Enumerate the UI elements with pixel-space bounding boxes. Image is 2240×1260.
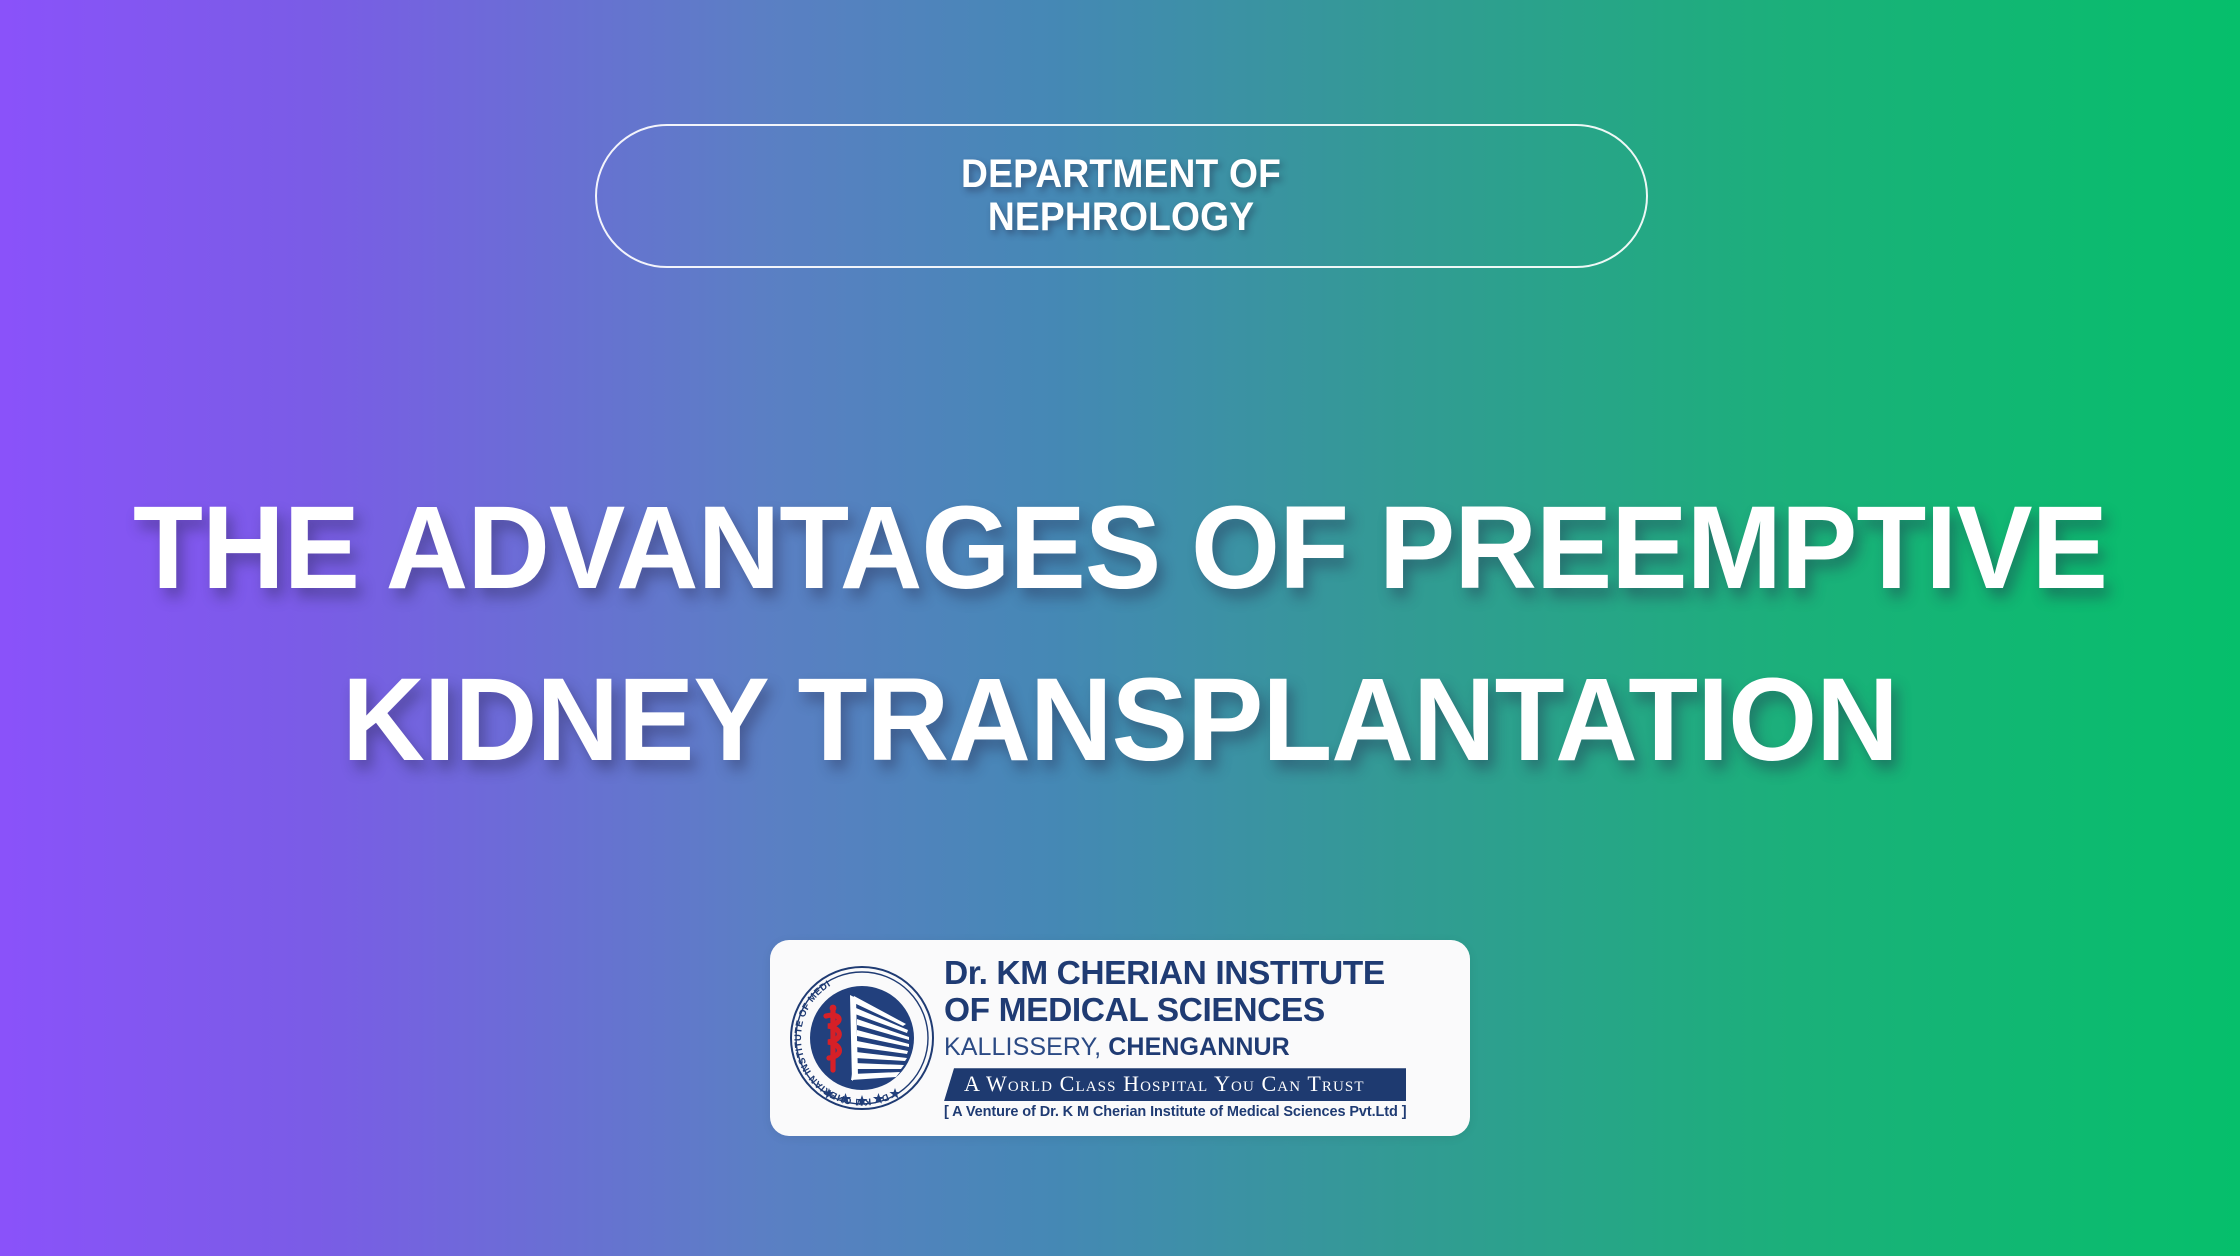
hospital-emblem-icon: Dr. KM CHERIAN INSTITUTE OF MEDICAL SCIE… xyxy=(786,962,938,1114)
hospital-tagline: A World Class Hospital You Can Trust xyxy=(944,1068,1406,1101)
hospital-tagline-group: A World Class Hospital You Can Trust [ A… xyxy=(944,1068,1406,1120)
hospital-location-town: KALLISSERY, xyxy=(944,1033,1108,1061)
page-title-line-1: THE ADVANTAGES OF PREEMPTIVE xyxy=(34,462,2207,634)
presentation-slide: DEPARTMENT OF NEPHROLOGY THE ADVANTAGES … xyxy=(0,0,2240,1260)
page-title: THE ADVANTAGES OF PREEMPTIVE KIDNEY TRAN… xyxy=(0,462,2240,807)
hospital-logo-card: Dr. KM CHERIAN INSTITUTE OF MEDICAL SCIE… xyxy=(770,940,1470,1136)
page-title-line-2: KIDNEY TRANSPLANTATION xyxy=(34,634,2207,806)
hospital-venture-note: [ A Venture of Dr. K M Cherian Institute… xyxy=(944,1104,1406,1120)
bottom-white-strip xyxy=(0,1256,2240,1260)
department-badge: DEPARTMENT OF NEPHROLOGY xyxy=(595,124,1648,268)
hospital-name-line-1: Dr. KM CHERIAN INSTITUTE xyxy=(944,955,1460,993)
hospital-location-city: CHENGANNUR xyxy=(1108,1033,1290,1061)
hospital-logo-text: Dr. KM CHERIAN INSTITUTE OF MEDICAL SCIE… xyxy=(944,955,1470,1121)
department-badge-label: DEPARTMENT OF NEPHROLOGY xyxy=(961,153,1281,239)
hospital-name-line-2: OF MEDICAL SCIENCES xyxy=(944,992,1460,1030)
hospital-location: KALLISSERY, CHENGANNUR xyxy=(944,1034,1460,1062)
